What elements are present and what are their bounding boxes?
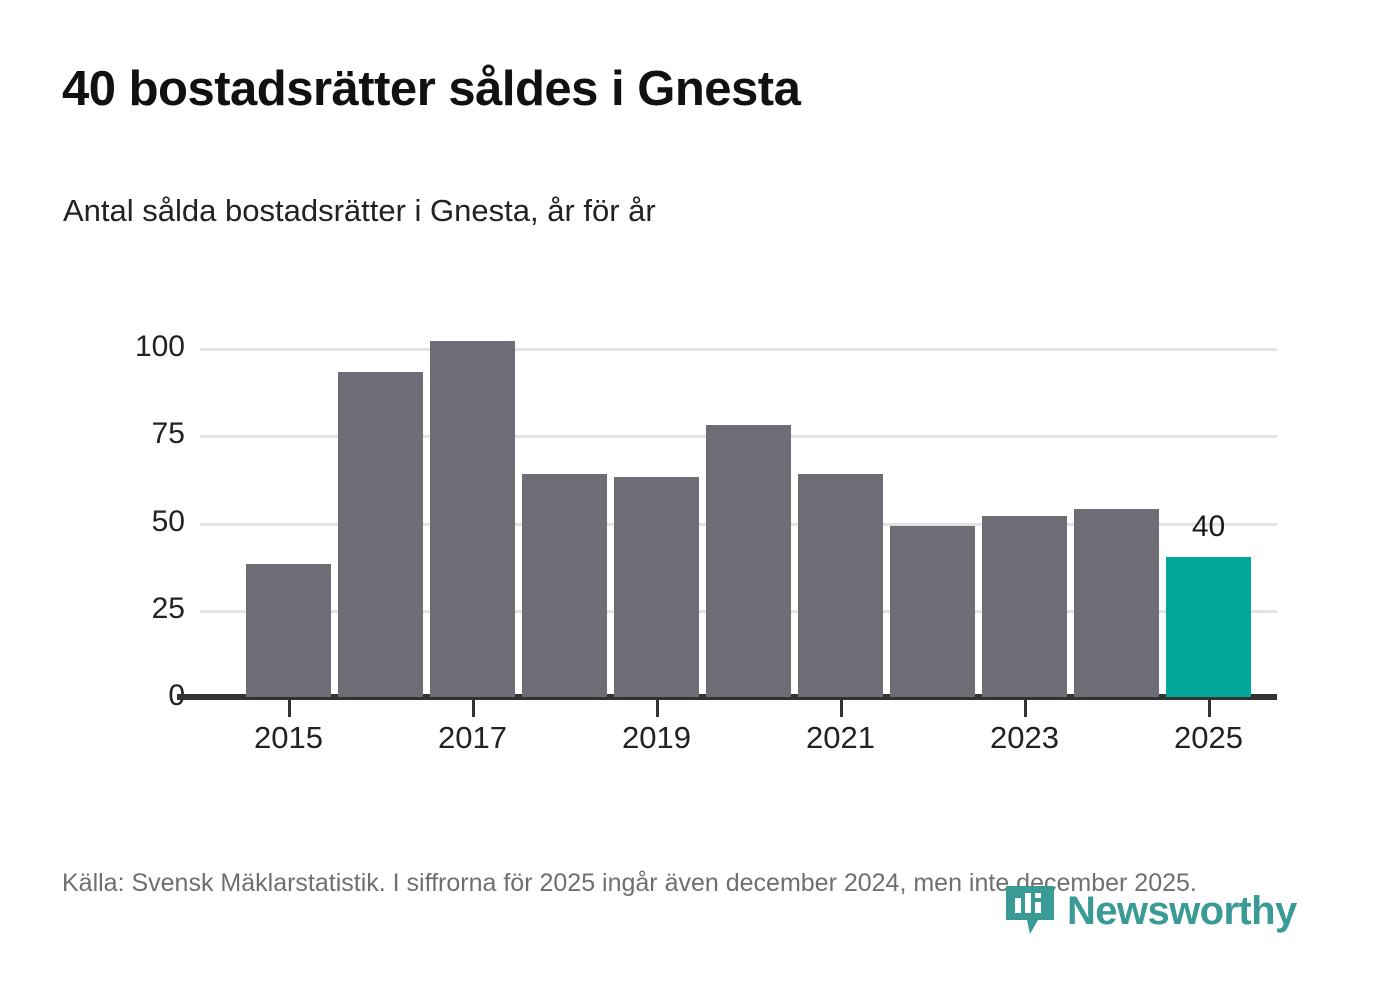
bar-2021[interactable]	[798, 474, 883, 697]
x-tick-2019	[656, 700, 659, 717]
bar-2018[interactable]	[522, 474, 607, 697]
x-axis-label-2019: 2019	[587, 722, 727, 753]
bar-value-label: 40	[1159, 512, 1259, 542]
x-axis-label-2023: 2023	[955, 722, 1095, 753]
x-tick-2015	[288, 700, 291, 717]
bar-2016[interactable]	[338, 372, 423, 697]
newsworthy-bars-icon	[1004, 884, 1056, 938]
bar-2022[interactable]	[890, 526, 975, 697]
x-axis-label-2025: 2025	[1139, 722, 1279, 753]
newsworthy-logo: Newsworthy	[1004, 884, 1297, 938]
bar-2019[interactable]	[614, 477, 699, 697]
x-axis-label-2017: 2017	[403, 722, 543, 753]
x-tick-2023	[1024, 700, 1027, 717]
x-tick-2021	[840, 700, 843, 717]
x-tick-2025	[1208, 700, 1211, 717]
bar-chart: 0255075100 40 201520172019202120232025	[0, 0, 1382, 999]
bar-2015[interactable]	[246, 564, 331, 697]
bar-2025[interactable]	[1166, 557, 1251, 697]
bar-2020[interactable]	[706, 425, 791, 697]
x-axis-label-2021: 2021	[771, 722, 911, 753]
x-axis-label-2015: 2015	[219, 722, 359, 753]
bar-2017[interactable]	[430, 341, 515, 697]
chart-page: 40 bostadsrätter såldes i Gnesta Antal s…	[0, 0, 1382, 999]
x-tick-2017	[472, 700, 475, 717]
logo-wordmark: Newsworthy	[1067, 891, 1297, 931]
bar-2023[interactable]	[982, 516, 1067, 697]
bar-series: 40	[0, 0, 1382, 999]
bar-2024[interactable]	[1074, 509, 1159, 697]
